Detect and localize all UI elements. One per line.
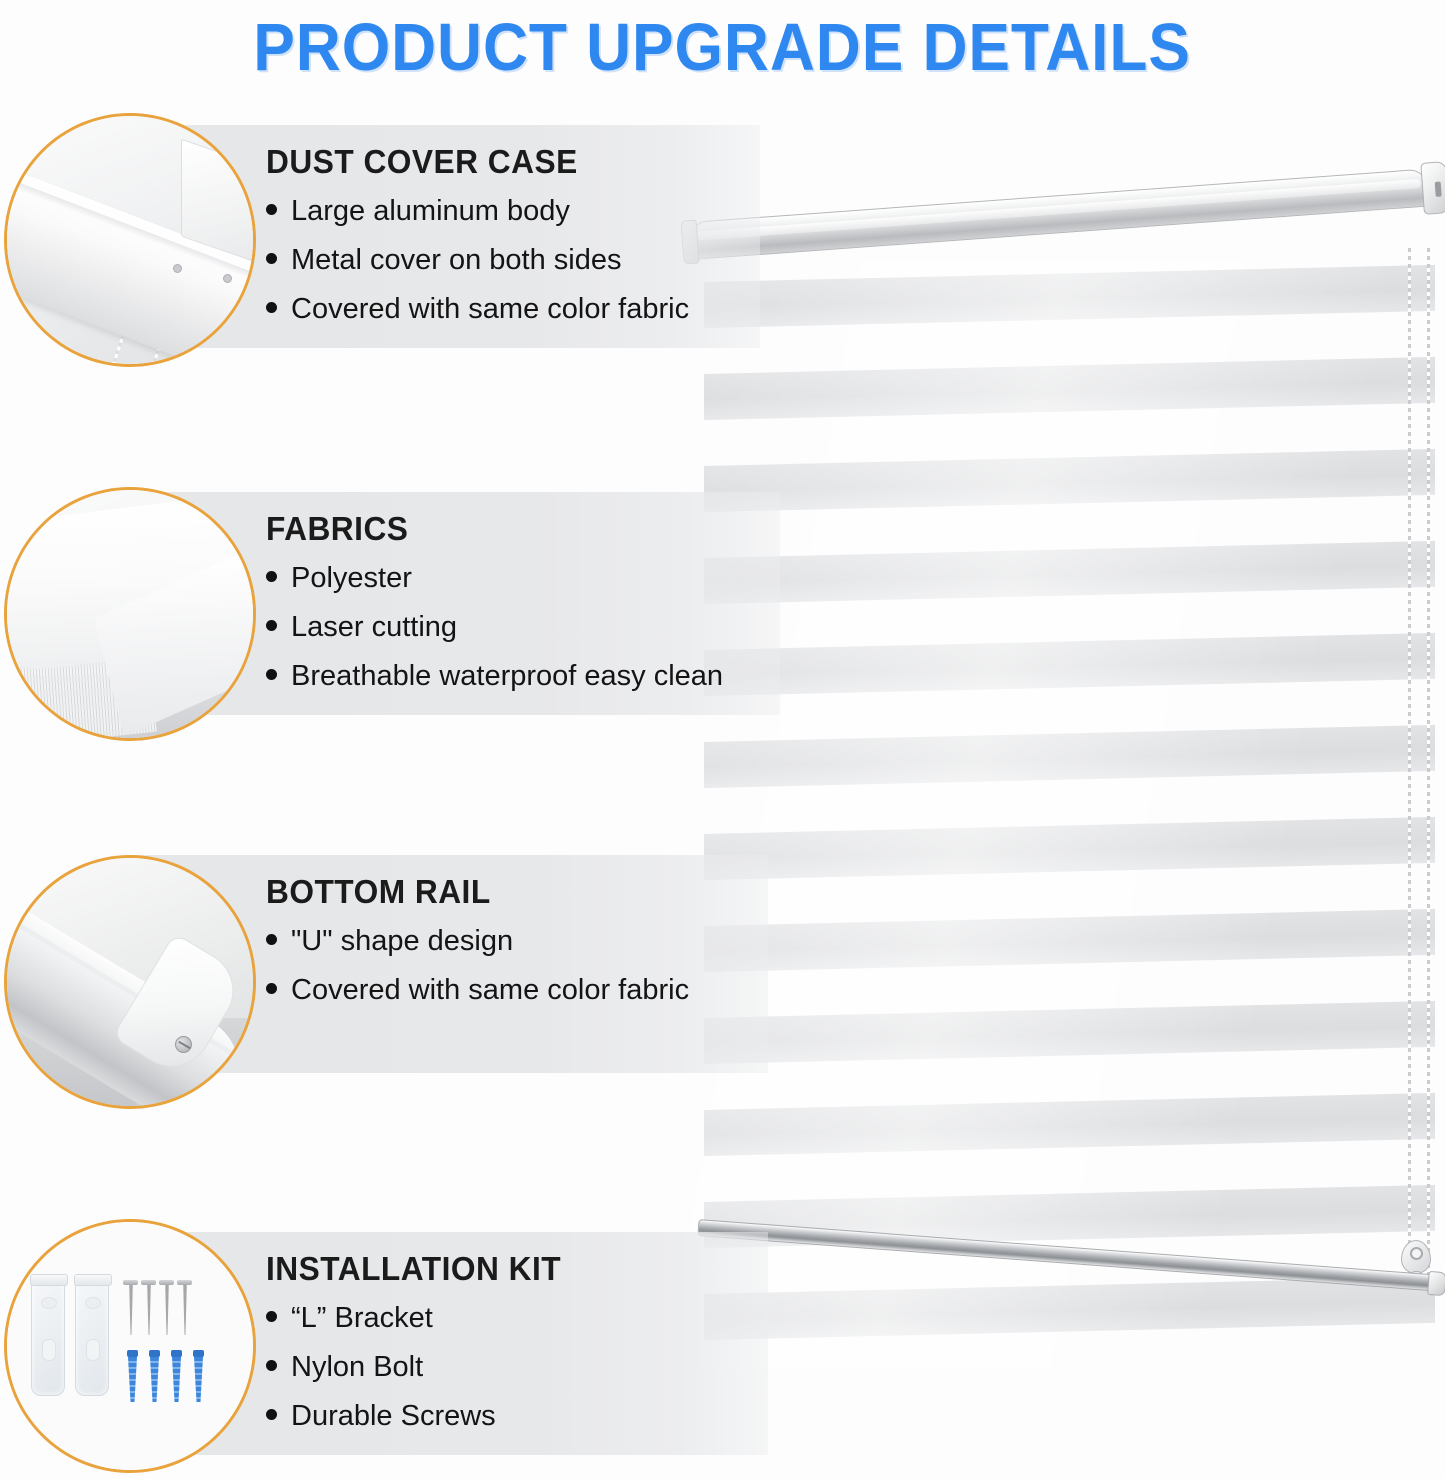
anchor-head	[193, 1350, 204, 1357]
bullet-dot-icon	[266, 1360, 277, 1371]
feature-bullet-list: “L” Bracket Nylon Bolt Durable Screws	[266, 1302, 768, 1433]
list-item: Nylon Bolt	[266, 1351, 768, 1384]
headrail-body	[689, 168, 1430, 259]
headrail-top-highlight	[696, 179, 1421, 241]
photo-screw-icon	[223, 274, 232, 283]
zebra-roller-blind-image	[690, 190, 1445, 1320]
bullet-text: Nylon Bolt	[291, 1351, 423, 1384]
bullet-dot-icon	[266, 1409, 277, 1420]
bullet-text: "U" shape design	[291, 925, 513, 958]
bullet-text: Laser cutting	[291, 611, 457, 644]
screw-head	[141, 1280, 156, 1285]
list-item: Metal cover on both sides	[266, 244, 760, 277]
fabric-stripe	[704, 632, 1435, 697]
u-shape-bottom-rail-photo	[7, 858, 253, 1106]
anchor-head	[127, 1350, 138, 1357]
anchor-body	[150, 1357, 159, 1402]
screw-head	[123, 1280, 138, 1285]
anchor-head	[171, 1350, 182, 1357]
bullet-dot-icon	[266, 302, 277, 313]
aluminum-headrail-cassette-photo	[7, 116, 253, 364]
bullet-text: Covered with same color fabric	[291, 293, 689, 326]
fabric-stripe	[704, 908, 1435, 973]
feature-photo-circle-dust-cover-case	[4, 113, 256, 367]
bracket-top-lip	[74, 1274, 112, 1286]
bullet-dot-icon	[266, 571, 277, 582]
screw-shaft	[147, 1285, 151, 1335]
fabric-stripe	[704, 1000, 1435, 1065]
fabric-stripe	[704, 540, 1435, 605]
anchor-head	[149, 1350, 160, 1357]
blind-fabric-stripes	[704, 265, 1435, 1370]
feature-bullet-list: Polyester Laser cutting Breathable water…	[266, 562, 780, 693]
anchor-body	[172, 1357, 181, 1402]
screw-head	[177, 1280, 192, 1285]
bullet-dot-icon	[266, 204, 277, 215]
bullet-dot-icon	[266, 934, 277, 945]
tensioner-hole	[1410, 1247, 1423, 1260]
kit-hardware-group	[31, 1280, 236, 1408]
screw-row	[127, 1280, 204, 1338]
screw-shaft	[165, 1285, 169, 1335]
brackets-screws-anchors-photo	[7, 1222, 253, 1470]
nylon-anchor-icon	[193, 1350, 204, 1402]
fasteners-group	[127, 1280, 204, 1402]
anchor-row	[127, 1350, 204, 1402]
headrail-right-endcap	[1420, 161, 1445, 215]
bullet-text: “L” Bracket	[291, 1302, 433, 1335]
bullet-dot-icon	[266, 253, 277, 264]
blind-headrail	[688, 160, 1438, 268]
screw-icon	[163, 1280, 170, 1338]
list-item: Large aluminum body	[266, 195, 760, 228]
fabric-stripe	[704, 1092, 1435, 1157]
fabric-stripe	[704, 724, 1435, 789]
anchor-body	[128, 1357, 137, 1402]
fabric-stripe	[704, 265, 1435, 329]
feature-photo-circle-fabrics	[4, 487, 256, 741]
screw-icon	[145, 1280, 152, 1338]
rolled-zebra-fabric-photo	[7, 490, 253, 738]
feature-heading: FABRICS	[266, 510, 759, 548]
feature-photo-circle-installation-kit	[4, 1219, 256, 1473]
screw-head	[159, 1280, 174, 1285]
feature-heading: DUST COVER CASE	[266, 143, 740, 181]
list-item: Laser cutting	[266, 611, 780, 644]
l-bracket-icon	[31, 1280, 65, 1396]
feature-bullet-list: Large aluminum body Metal cover on both …	[266, 195, 760, 326]
fabric-stripe	[704, 448, 1435, 513]
photo-endcap-screw-icon	[175, 1036, 192, 1053]
list-item: "U" shape design	[266, 925, 768, 958]
bead-chain-left-strand	[1408, 248, 1411, 1283]
fabric-stripe	[704, 816, 1435, 881]
list-item: Covered with same color fabric	[266, 974, 768, 1007]
list-item: Durable Screws	[266, 1400, 768, 1433]
list-item: Polyester	[266, 562, 780, 595]
fabric-stripe	[704, 356, 1435, 421]
bullet-dot-icon	[266, 1311, 277, 1322]
bullet-text: Metal cover on both sides	[291, 244, 621, 277]
screw-shaft	[183, 1285, 187, 1335]
bullet-text: Breathable waterproof easy clean	[291, 660, 723, 693]
bullet-dot-icon	[266, 620, 277, 631]
bullet-dot-icon	[266, 983, 277, 994]
list-item: Covered with same color fabric	[266, 293, 760, 326]
bullet-text: Polyester	[291, 562, 412, 595]
list-item: “L” Bracket	[266, 1302, 768, 1335]
nylon-anchor-icon	[127, 1350, 138, 1402]
bottom-rail-endcap	[1427, 1271, 1445, 1296]
feature-heading: BOTTOM RAIL	[266, 873, 748, 911]
l-bracket-icon	[75, 1280, 109, 1396]
bullet-dot-icon	[266, 669, 277, 680]
anchor-body	[194, 1357, 203, 1402]
bullet-text: Durable Screws	[291, 1400, 496, 1433]
nylon-anchor-icon	[171, 1350, 182, 1402]
page-title-bar: PRODUCT UPGRADE DETAILS	[0, 0, 1445, 95]
page-title: PRODUCT UPGRADE DETAILS	[254, 9, 1192, 86]
screw-shaft	[129, 1285, 133, 1335]
bracket-top-lip	[30, 1274, 68, 1286]
nylon-anchor-icon	[149, 1350, 160, 1402]
bullet-text: Covered with same color fabric	[291, 974, 689, 1007]
bullet-text: Large aluminum body	[291, 195, 570, 228]
feature-heading: INSTALLATION KIT	[266, 1250, 748, 1288]
feature-bullet-list: "U" shape design Covered with same color…	[266, 925, 768, 1007]
feature-photo-circle-bottom-rail	[4, 855, 256, 1109]
bead-chain-right-strand	[1427, 248, 1430, 1283]
screw-icon	[127, 1280, 134, 1338]
screw-icon	[181, 1280, 188, 1338]
list-item: Breathable waterproof easy clean	[266, 660, 780, 693]
photo-screw-icon	[173, 264, 182, 273]
